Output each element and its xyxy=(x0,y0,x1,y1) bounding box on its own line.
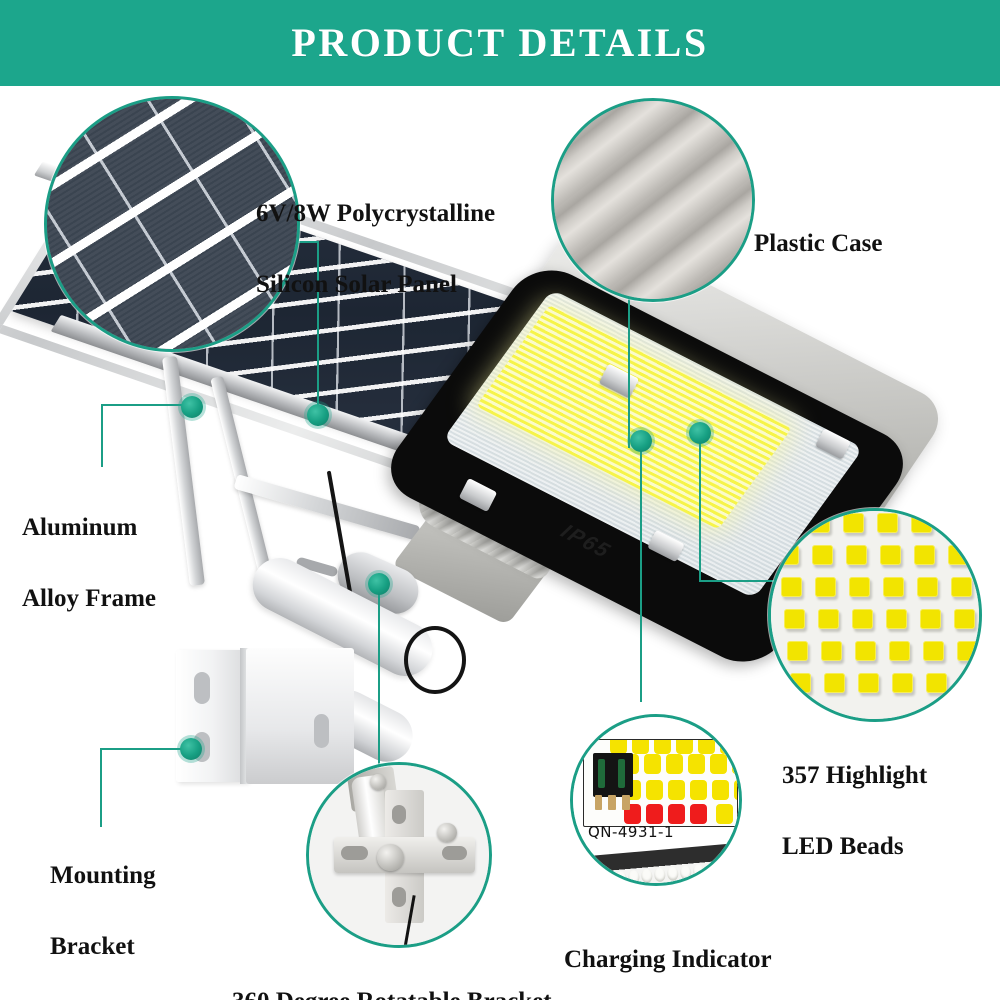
header-banner: PRODUCT DETAILS xyxy=(0,0,1000,86)
indicator-pad-red xyxy=(690,804,707,824)
mounting-bracket-wall-plate xyxy=(176,650,248,782)
led-chip xyxy=(821,641,842,661)
label-charging-indicator: Charging Indicator xyxy=(564,906,772,1000)
led-chip xyxy=(948,545,969,565)
led-strip-bump xyxy=(602,872,614,886)
indicator-pad-yellow xyxy=(690,780,707,800)
led-strip-bump xyxy=(654,867,666,882)
led-chip xyxy=(886,609,907,629)
label-plastic-case: Plastic Case xyxy=(754,190,882,297)
rotatable-bracket-macro xyxy=(309,765,489,945)
plastic-fins-macro xyxy=(554,101,752,299)
led-chip-array-macro xyxy=(771,511,979,719)
label-mounting-bracket-line1: Mounting xyxy=(50,858,156,894)
anchor-dot-led-beads xyxy=(689,422,711,444)
led-chip xyxy=(809,513,830,533)
transistor-leg-2 xyxy=(608,795,616,811)
led-chip xyxy=(892,673,913,693)
leader-aluminum-frame-vertical xyxy=(101,404,103,467)
led-chip xyxy=(917,577,938,597)
led-chip xyxy=(781,577,802,597)
led-chip xyxy=(818,609,839,629)
led-chip xyxy=(960,673,981,693)
label-led-beads-line2: LED Beads xyxy=(782,829,927,865)
indicator-pad-red xyxy=(668,804,685,824)
indicator-pad-yellow xyxy=(666,754,683,774)
indicator-board-macro: QN-4931-1 xyxy=(573,717,739,883)
led-chip xyxy=(778,545,799,565)
magnifier-led-beads xyxy=(768,508,982,722)
board-code-label: QN-4931-1 xyxy=(588,823,674,841)
led-chip xyxy=(954,609,975,629)
indicator-pad-yellow xyxy=(668,780,685,800)
bracket-plate-slot-bottom xyxy=(392,887,406,907)
led-strip-bump xyxy=(641,868,653,883)
transistor-leg-3 xyxy=(622,795,630,811)
led-chip xyxy=(914,545,935,565)
label-aluminum-frame-line1: Aluminum xyxy=(22,510,156,546)
led-chip xyxy=(849,577,870,597)
led-chip xyxy=(877,513,898,533)
indicator-pad-red xyxy=(646,804,663,824)
leader-charging-indicator xyxy=(640,440,642,702)
label-solar-panel: 6V/8W Polycrystalline Silicon Solar Pane… xyxy=(256,160,495,338)
label-solar-panel-line1: 6V/8W Polycrystalline xyxy=(256,196,495,232)
led-strip-bump xyxy=(615,871,627,886)
led-chip xyxy=(855,641,876,661)
page-title: PRODUCT DETAILS xyxy=(291,23,708,63)
led-chip xyxy=(815,577,836,597)
led-strip-bump xyxy=(570,875,575,886)
indicator-pad-yellow xyxy=(610,739,627,754)
leader-mounting-bracket-vertical xyxy=(100,748,102,827)
led-chip xyxy=(787,641,808,661)
indicator-pad-yellow xyxy=(720,739,737,754)
indicator-pad-yellow xyxy=(716,804,733,824)
led-chip xyxy=(843,513,864,533)
label-mounting-bracket-line2: Bracket xyxy=(50,929,156,965)
led-strip-bump xyxy=(731,861,742,876)
anchor-dot-aluminum-frame xyxy=(181,396,203,418)
transistor-mark-right xyxy=(618,759,626,788)
led-chip xyxy=(846,545,867,565)
led-chip xyxy=(880,545,901,565)
led-strip-edge xyxy=(570,842,742,886)
label-led-beads: 357 Highlight LED Beads xyxy=(782,722,927,900)
indicator-pad-yellow xyxy=(654,739,671,754)
label-solar-panel-line2: Silicon Solar Panel xyxy=(256,267,495,303)
anchor-dot-mounting-bracket xyxy=(180,738,202,760)
bracket-plate-slot-left xyxy=(341,846,368,860)
led-strip-bump xyxy=(589,873,601,886)
leader-rotatable-bracket xyxy=(378,583,380,779)
led-chip xyxy=(923,641,944,661)
label-aluminum-frame-line2: Alloy Frame xyxy=(22,581,156,617)
label-mounting-bracket: Mounting Bracket xyxy=(50,822,156,1000)
led-chip xyxy=(858,673,879,693)
led-strip-bump xyxy=(693,864,705,879)
indicator-pad-yellow xyxy=(734,780,738,800)
indicator-pad-yellow xyxy=(644,754,661,774)
anchor-dot-rotatable-bracket xyxy=(368,573,390,595)
product-details-infographic: PRODUCT DETAILS IP65 xyxy=(0,0,1000,1000)
led-chip xyxy=(926,673,947,693)
leader-plastic-case xyxy=(628,280,630,448)
led-strip-bump xyxy=(706,863,718,878)
leader-led-beads-horizontal xyxy=(699,580,779,582)
indicator-pad-yellow xyxy=(676,739,693,754)
transistor-mark-left xyxy=(598,759,606,788)
bracket-plate-slot-top xyxy=(392,805,406,825)
bracket-slot-right xyxy=(314,714,329,748)
indicator-board-card xyxy=(583,739,738,827)
indicator-pad-yellow xyxy=(710,754,727,774)
led-strip-bump xyxy=(680,865,692,880)
indicator-pad-yellow xyxy=(688,754,705,774)
led-strip-bump xyxy=(576,874,588,886)
led-chip xyxy=(784,609,805,629)
mounting-bracket-face-plate xyxy=(246,648,354,784)
bracket-plate-slot-right xyxy=(442,846,467,860)
led-chip xyxy=(775,513,796,533)
led-chip xyxy=(889,641,910,661)
led-chip xyxy=(824,673,845,693)
led-chip xyxy=(883,577,904,597)
led-chip xyxy=(957,641,978,661)
anchor-dot-solar-panel xyxy=(307,404,329,426)
cable-loop xyxy=(404,626,466,694)
label-rotatable-bracket: 360 Degree Rotatable Bracket xyxy=(232,948,552,1000)
indicator-pad-yellow xyxy=(646,780,663,800)
led-chip xyxy=(951,577,972,597)
indicator-pad-yellow xyxy=(632,739,649,754)
indicator-pad-yellow xyxy=(698,739,715,754)
bracket-bolt-right xyxy=(437,823,457,843)
label-led-beads-line1: 357 Highlight xyxy=(782,758,927,794)
transistor-leg-1 xyxy=(595,795,603,811)
label-aluminum-frame: Aluminum Alloy Frame xyxy=(22,474,156,652)
indicator-pad-yellow xyxy=(712,780,729,800)
magnifier-plastic-case xyxy=(551,98,755,302)
led-chip xyxy=(790,673,811,693)
label-plastic-case-line1: Plastic Case xyxy=(754,226,882,262)
label-charging-indicator-line1: Charging Indicator xyxy=(564,942,772,978)
led-strip-bump xyxy=(667,866,679,881)
led-strip-bump xyxy=(628,870,640,885)
anchor-dot-charging-indicator xyxy=(630,430,652,452)
indicator-pad-yellow xyxy=(732,754,738,774)
led-chip xyxy=(812,545,833,565)
magnifier-charging-indicator: QN-4931-1 xyxy=(570,714,742,886)
label-rotatable-bracket-line1: 360 Degree Rotatable Bracket xyxy=(232,984,552,1000)
magnifier-rotatable-bracket xyxy=(306,762,492,948)
leader-led-beads-vertical xyxy=(699,432,701,582)
led-chip xyxy=(945,513,966,533)
led-chip xyxy=(852,609,873,629)
led-strip-bump xyxy=(719,862,731,877)
led-chip xyxy=(920,609,941,629)
bracket-slot-upper-left xyxy=(194,672,210,704)
led-chip xyxy=(911,513,932,533)
